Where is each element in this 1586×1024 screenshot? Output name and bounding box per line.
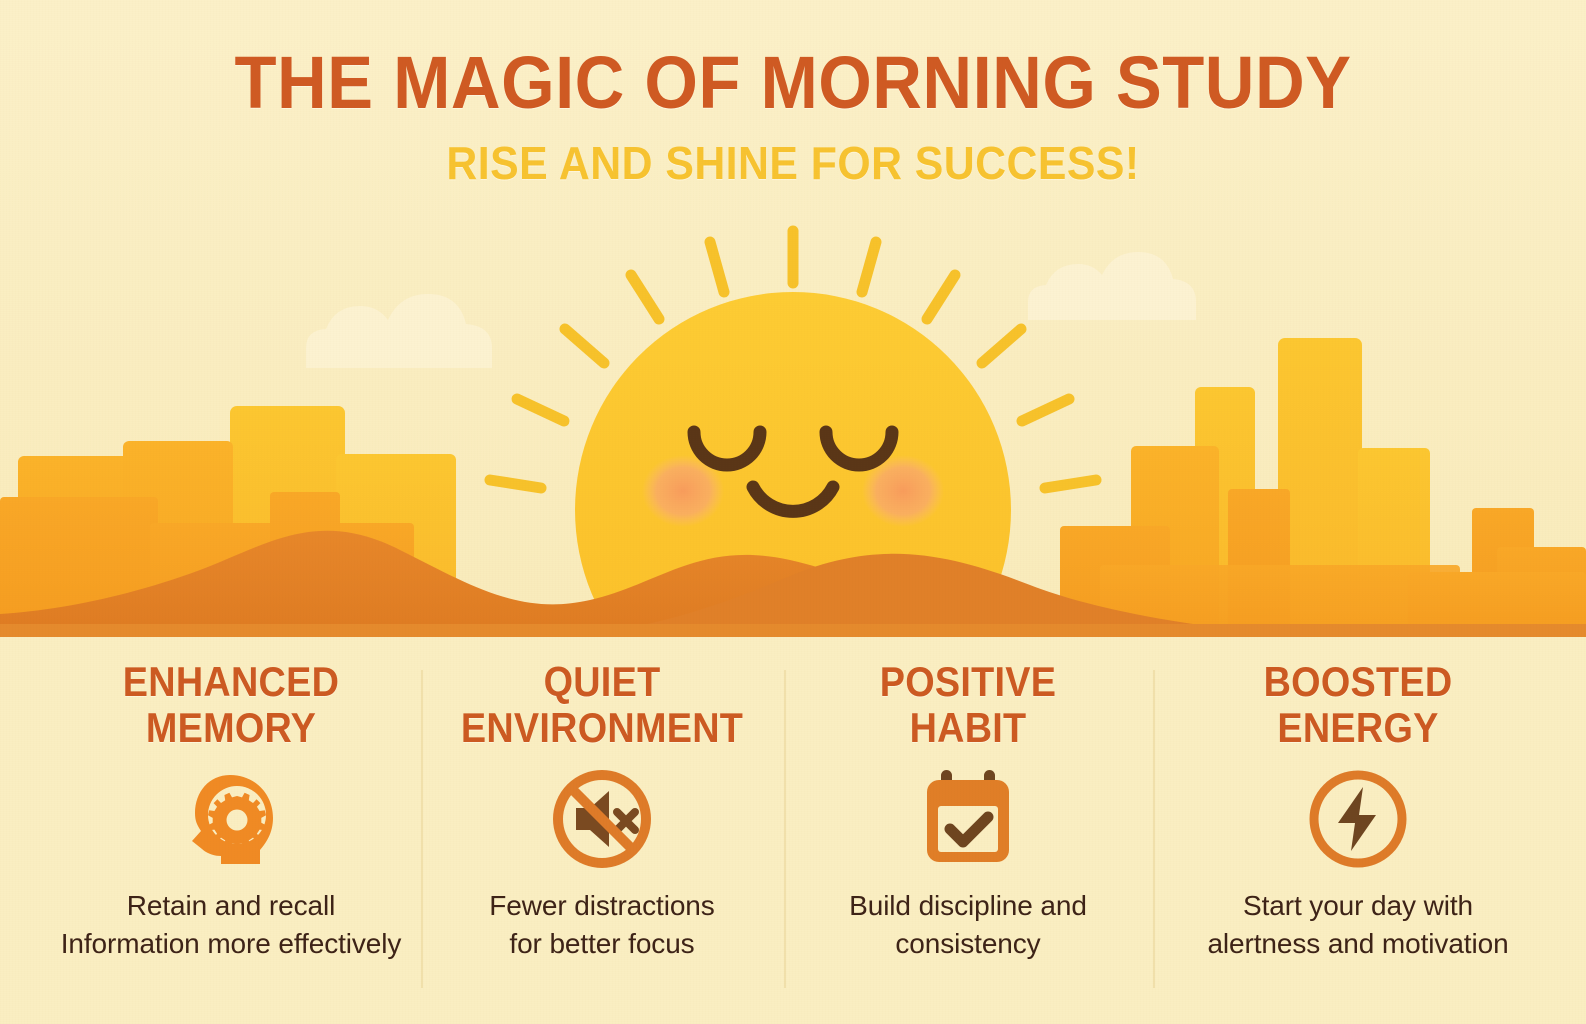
- card-title-quiet-environment: QUIET ENVIRONMENT: [442, 659, 762, 751]
- card-title-line1: ENHANCED: [123, 658, 339, 705]
- card-desc-quiet-environment: Fewer distractions for better focus: [424, 887, 780, 963]
- card-icon-wrap-quiet-environment: [424, 763, 780, 875]
- card-desc-enhanced-memory: Retain and recall Information more effec…: [42, 887, 420, 963]
- card-icon-wrap-positive-habit: [788, 763, 1148, 875]
- card-title-line2: MEMORY: [146, 704, 316, 751]
- card-desc-line1: Start your day with: [1243, 890, 1473, 921]
- card-desc-line1: Retain and recall: [127, 890, 335, 921]
- benefit-card-positive-habit[interactable]: POSITIVE HABIT Build discipline and cons…: [788, 637, 1148, 1024]
- page-subtitle: RISE AND SHINE FOR SUCCESS!: [56, 138, 1531, 188]
- card-divider-2: [784, 670, 786, 988]
- card-title-line1: BOOSTED: [1264, 658, 1453, 705]
- card-desc-line1: Fewer distractions: [489, 890, 714, 921]
- card-title-positive-habit: POSITIVE HABIT: [806, 659, 1130, 751]
- card-desc-positive-habit: Build discipline and consistency: [788, 887, 1148, 963]
- card-title-line1: POSITIVE: [880, 658, 1057, 705]
- benefits-section: ENHANCED MEMORY Retain and recall Inform…: [0, 637, 1586, 1024]
- card-icon-wrap-enhanced-memory: [42, 763, 420, 875]
- infographic-poster: THE MAGIC OF MORNING STUDY RISE AND SHIN…: [0, 0, 1586, 1024]
- card-desc-line1: Build discipline and: [849, 890, 1087, 921]
- card-desc-line2: for better focus: [509, 928, 694, 959]
- card-title-enhanced-memory: ENHANCED MEMORY: [61, 659, 401, 751]
- benefit-card-enhanced-memory[interactable]: ENHANCED MEMORY Retain and recall Inform…: [42, 637, 420, 1024]
- card-title-line2: ENVIRONMENT: [461, 704, 743, 751]
- card-desc-line2: Information more effectively: [61, 928, 402, 959]
- muted-speaker-icon: [547, 764, 657, 874]
- page-title: THE MAGIC OF MORNING STUDY: [56, 44, 1531, 122]
- benefit-card-boosted-energy[interactable]: BOOSTED ENERGY Start your day with alert…: [1158, 637, 1558, 1024]
- card-icon-wrap-boosted-energy: [1158, 763, 1558, 875]
- card-title-line1: QUIET: [544, 658, 661, 705]
- card-desc-line2: consistency: [895, 928, 1040, 959]
- calendar-check-icon: [914, 764, 1022, 874]
- card-title-boosted-energy: BOOSTED ENERGY: [1178, 659, 1538, 751]
- card-divider-3: [1153, 670, 1155, 988]
- hero-section: THE MAGIC OF MORNING STUDY RISE AND SHIN…: [0, 0, 1586, 637]
- benefit-card-quiet-environment[interactable]: QUIET ENVIRONMENT Fewer distractions for…: [424, 637, 780, 1024]
- card-divider-1: [421, 670, 423, 988]
- card-desc-line2: alertness and motivation: [1207, 928, 1508, 959]
- card-desc-boosted-energy: Start your day with alertness and motiva…: [1158, 887, 1558, 963]
- card-title-line2: HABIT: [910, 704, 1027, 751]
- lightning-bolt-circle-icon: [1304, 765, 1412, 873]
- card-title-line2: ENERGY: [1277, 704, 1438, 751]
- head-with-gear-icon: [175, 763, 287, 875]
- hill-base: [0, 624, 1586, 637]
